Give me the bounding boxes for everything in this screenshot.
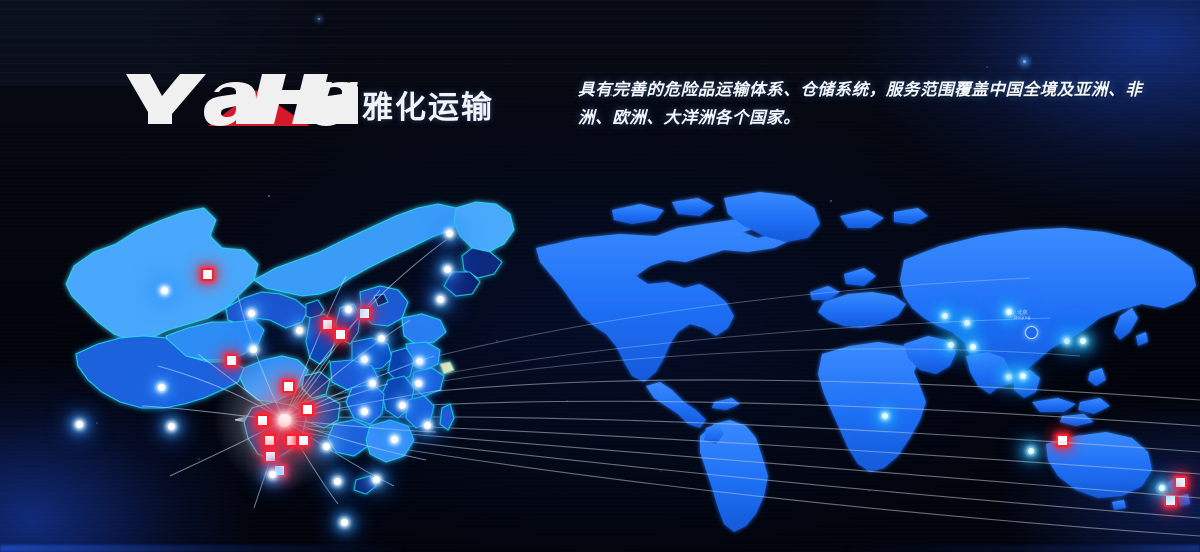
- company-logo[interactable]: 雅化运输: [110, 68, 480, 134]
- banner-tagline: 具有完善的危险品运输体系、仓储系统，服务范围覆盖中国全境及亚洲、非洲、欧洲、大洋…: [578, 76, 1150, 132]
- yahua-wordmark-icon: [110, 68, 358, 130]
- company-name-cn: 雅化运输: [362, 82, 494, 127]
- banner-root: 北京 Beijing: [0, 0, 1200, 552]
- banner-header: 雅化运输 具有完善的危险品运输体系、仓储系统，服务范围覆盖中国全境及亚洲、非洲、…: [0, 0, 1200, 160]
- background-bottom-glow: [0, 545, 1200, 552]
- china-map: [58, 168, 540, 552]
